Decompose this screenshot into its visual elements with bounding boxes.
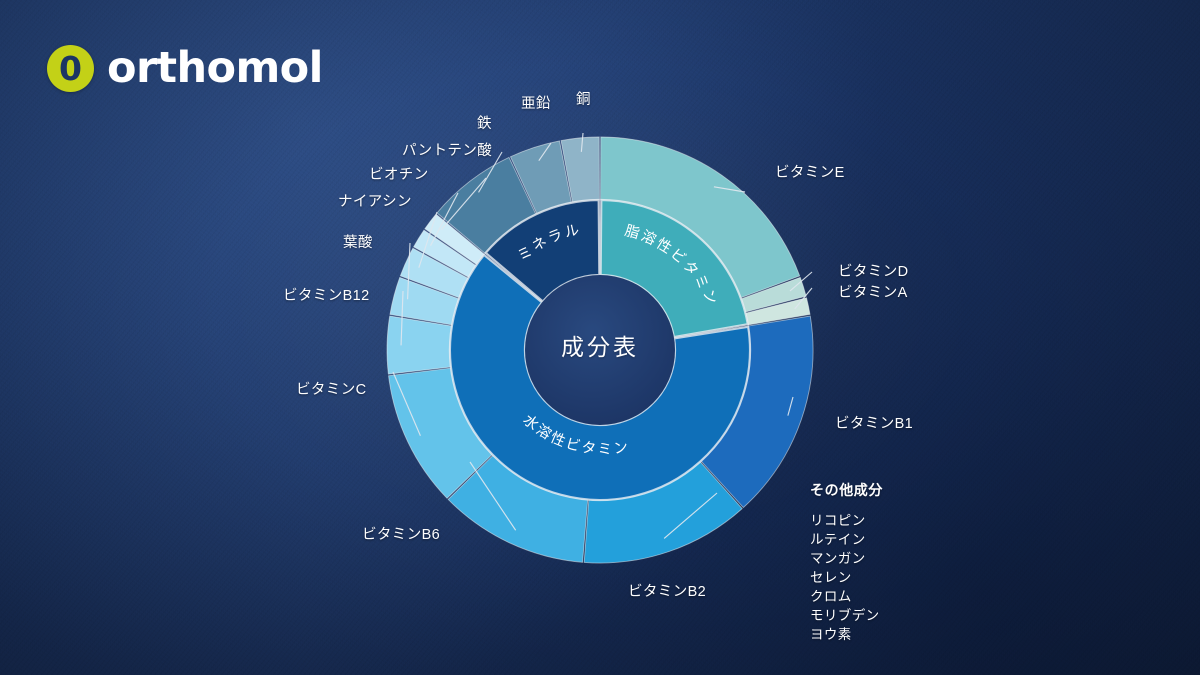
- other-ingredient-item: リコピン: [810, 511, 883, 530]
- other-ingredient-item: ヨウ素: [810, 625, 883, 644]
- other-ingredient-item: ルテイン: [810, 530, 883, 549]
- other-ingredients-list: リコピンルテインマンガンセレンクロムモリブデンヨウ素: [810, 511, 883, 644]
- chart-label-niacin: ナイアシン: [338, 190, 412, 211]
- chart-label-folic-acid: 葉酸: [343, 231, 373, 252]
- other-ingredient-item: セレン: [810, 568, 883, 587]
- chart-label-pantothenic: パントテン酸: [402, 139, 492, 160]
- other-ingredient-item: マンガン: [810, 549, 883, 568]
- brand-wordmark: orthomol: [107, 47, 323, 90]
- chart-label-biotin: ビオチン: [369, 163, 429, 184]
- chart-label-vitamin-d: ビタミンD: [838, 260, 908, 281]
- chart-label-vitamin-b12: ビタミンB12: [283, 284, 370, 305]
- chart-label-vitamin-b1: ビタミンB1: [835, 412, 913, 433]
- chart-label-vitamin-c: ビタミンC: [296, 378, 366, 399]
- outer-segment-8[interactable]: [387, 316, 452, 374]
- other-ingredients-title: その他成分: [810, 480, 883, 500]
- chart-label-copper: 銅: [576, 88, 591, 109]
- chart-label-vitamin-e: ビタミンE: [775, 161, 845, 182]
- orthomol-circle-icon: 0: [47, 45, 94, 92]
- chart-label-zinc: 亜鉛: [521, 92, 551, 113]
- ingredient-sunburst-chart: 脂溶性ビタミン水溶性ビタミンミネラル 成分表: [0, 0, 1200, 675]
- slide-canvas: 0 orthomol 脂溶性ビタミン水溶性ビタミン: [0, 0, 1200, 675]
- chart-label-vitamin-b6: ビタミンB6: [362, 523, 440, 544]
- brand-logo: 0 orthomol: [47, 45, 323, 92]
- chart-label-vitamin-b2: ビタミンB2: [628, 580, 706, 601]
- logo-zero-glyph: 0: [59, 52, 82, 85]
- chart-label-iron: 鉄: [477, 112, 492, 133]
- other-ingredients-block: その他成分 リコピンルテインマンガンセレンクロムモリブデンヨウ素: [810, 480, 883, 644]
- other-ingredient-item: モリブデン: [810, 606, 883, 625]
- chart-center-title: 成分表: [561, 328, 639, 362]
- other-ingredient-item: クロム: [810, 587, 883, 606]
- chart-label-vitamin-a: ビタミンA: [838, 281, 908, 302]
